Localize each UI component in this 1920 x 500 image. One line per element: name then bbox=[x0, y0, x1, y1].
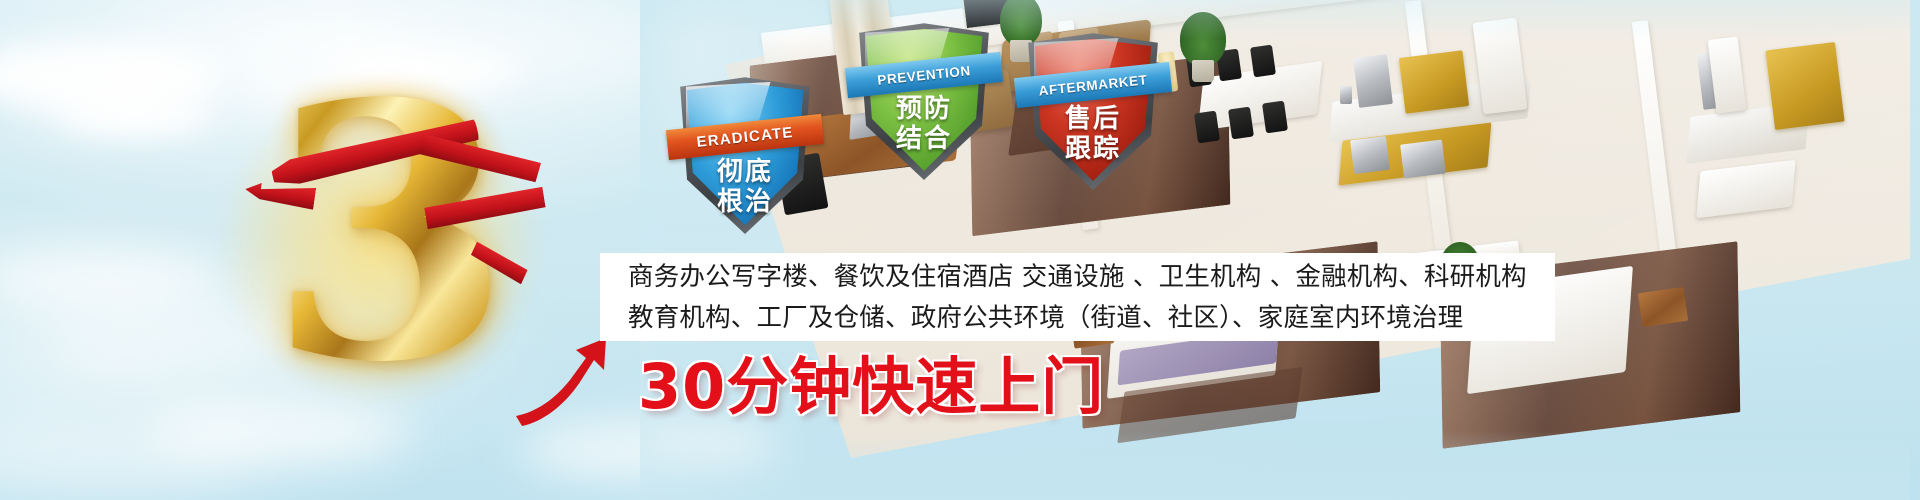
badge-sash-label: AFTERMARKET bbox=[1038, 72, 1148, 98]
badge-chinese-label: 售后 跟踪 bbox=[1024, 104, 1162, 164]
range-hood bbox=[1353, 54, 1393, 108]
dining-chair bbox=[1228, 107, 1254, 140]
oven bbox=[1350, 136, 1390, 174]
golden-three: 3 bbox=[240, 58, 540, 418]
plant-pot bbox=[1192, 60, 1214, 82]
dining-chair bbox=[1262, 101, 1288, 134]
service-scope-line-2: 教育机构、工厂及仓储、政府公共环境（街道、社区）、家庭室内环境治理 bbox=[600, 298, 1555, 339]
red-ribbon-arrow-icon bbox=[508, 330, 628, 450]
service-scope-line-1: 商务办公写字楼、餐饮及住宿酒店 交通设施 、卫生机构 、金融机构、科研机构 bbox=[600, 253, 1555, 298]
apartment-cutaway-render bbox=[640, 0, 1910, 500]
badge-chinese-label: 预防 结合 bbox=[855, 94, 993, 154]
plant-leaf bbox=[1180, 12, 1226, 66]
dining-chair bbox=[1194, 111, 1220, 144]
cloud-shape bbox=[60, 95, 210, 135]
headline-text: 30分钟快速上门 bbox=[638, 352, 1104, 422]
side-table bbox=[1638, 287, 1688, 327]
badge-prevention: PREVENTION 预防 结合 bbox=[855, 20, 993, 180]
dining-chair bbox=[1250, 45, 1276, 78]
service-scope-panel: 商务办公写字楼、餐饮及住宿酒店 交通设施 、卫生机构 、金融机构、科研机构 教育… bbox=[600, 253, 1555, 341]
sink-faucet bbox=[1340, 86, 1352, 104]
badge-chinese-label: 彻底 根治 bbox=[676, 157, 814, 217]
promotional-banner: 3 3 ERADICATE 彻底 根治 PREVENTION 预防 结合 bbox=[0, 0, 1920, 500]
wall-cabinet bbox=[1765, 42, 1844, 130]
badge-aftermarket: AFTERMARKET 售后 跟踪 bbox=[1024, 30, 1162, 190]
badge-sash-label: ERADICATE bbox=[696, 123, 794, 150]
badge-sash-label: PREVENTION bbox=[877, 63, 972, 88]
dishwasher bbox=[1400, 140, 1446, 179]
badge-eradicate: ERADICATE 彻底 根治 bbox=[676, 74, 814, 234]
upper-cabinet bbox=[1399, 50, 1469, 113]
